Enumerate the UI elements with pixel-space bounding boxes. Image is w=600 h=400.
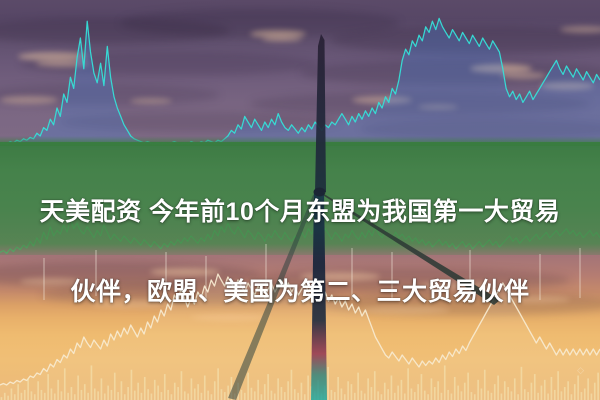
headline-line-1: 天美配资 今年前10个月东盟为我国第一大贸易: [0, 192, 600, 232]
headline-line-2: 伙伴，欧盟、美国为第二、三大贸易伙伴: [0, 272, 600, 312]
watermark: ◇: [577, 365, 584, 376]
page-headline: 天美配资 今年前10个月东盟为我国第一大贸易 伙伴，欧盟、美国为第二、三大贸易伙…: [0, 152, 600, 352]
banner-image: 天美配资 今年前10个月东盟为我国第一大贸易 伙伴，欧盟、美国为第二、三大贸易伙…: [0, 0, 600, 400]
